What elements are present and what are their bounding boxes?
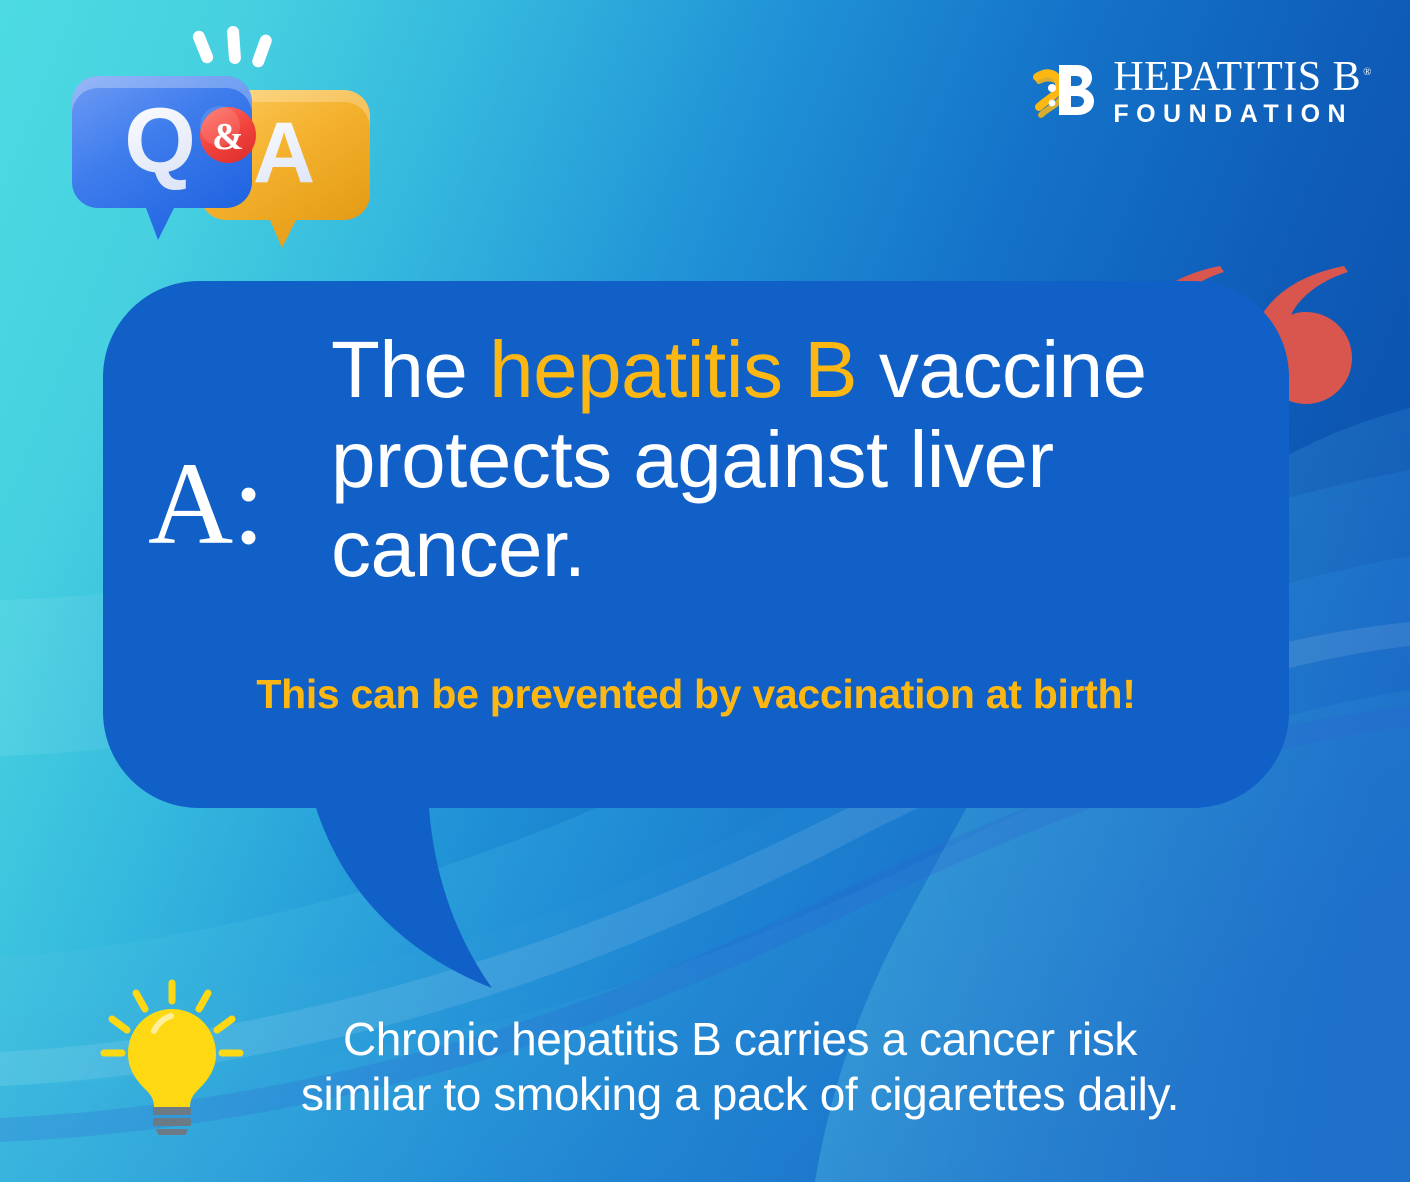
tip-line-1: Chronic hepatitis B carries a cancer ris… — [170, 1012, 1310, 1067]
headline-accent: hepatitis B — [489, 325, 857, 414]
tip-line-2: similar to smoking a pack of cigarettes … — [170, 1067, 1310, 1122]
headline: The hepatitis B vaccine protects against… — [331, 325, 1281, 594]
speech-bubble-content: A: The hepatitis B vaccine protects agai… — [103, 281, 1289, 808]
answer-marker: A: — [148, 445, 264, 563]
headline-part1: The — [331, 325, 489, 414]
social-graphic-poster: A Q & HEPATITIS B® FO — [0, 0, 1410, 1182]
tip-text: Chronic hepatitis B carries a cancer ris… — [170, 1012, 1310, 1122]
subline: This can be prevented by vaccination at … — [103, 671, 1289, 718]
